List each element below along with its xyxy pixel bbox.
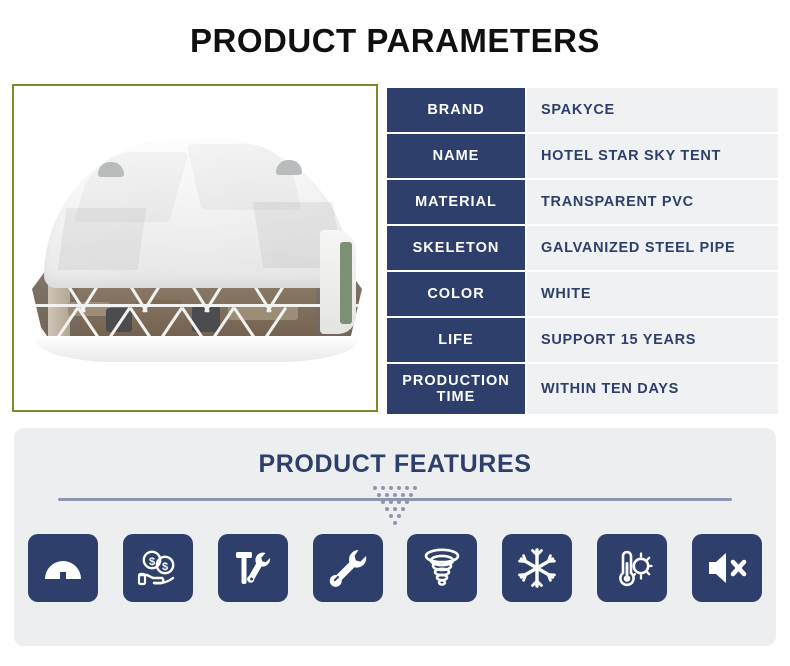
spec-label-life: LIFE (387, 318, 525, 362)
table-row: SKELETON GALVANIZED STEEL PIPE (387, 226, 778, 270)
spec-label-name: NAME (387, 134, 525, 178)
roof-vent (276, 160, 302, 175)
table-row: PRODUCTION TIME WITHIN TEN DAYS (387, 364, 778, 414)
dome-tent-illustration (32, 138, 362, 368)
thermometer-sun-icon[interactable] (597, 534, 667, 602)
table-row: NAME HOTEL STAR SKY TENT (387, 134, 778, 178)
dome-roof (44, 138, 350, 288)
feature-icon-strip: $ $ (14, 534, 776, 602)
spec-value-production-time: WITHIN TEN DAYS (527, 364, 778, 414)
product-photo-stage (14, 86, 376, 410)
hammer-wrench-icon[interactable] (218, 534, 288, 602)
table-row: COLOR WHITE (387, 272, 778, 316)
tornado-wind-icon[interactable] (407, 534, 477, 602)
spec-label-color: COLOR (387, 272, 525, 316)
roof-facet (58, 208, 147, 270)
spec-label-production-time: PRODUCTION TIME (387, 364, 525, 414)
spec-label-skeleton: SKELETON (387, 226, 525, 270)
spec-value-brand: SPAKYCE (527, 88, 778, 132)
roof-vent (98, 162, 124, 177)
speaker-mute-icon[interactable] (692, 534, 762, 602)
features-title: PRODUCT FEATURES (14, 450, 776, 479)
hand-coins-icon[interactable]: $ $ (123, 534, 193, 602)
roof-facet (186, 144, 301, 210)
divider-dot-ornament (14, 486, 776, 528)
product-image (12, 84, 378, 412)
spec-value-color: WHITE (527, 272, 778, 316)
table-row: MATERIAL TRANSPARENT PVC (387, 180, 778, 224)
spec-label-brand: BRAND (387, 88, 525, 132)
dome-base-skirt (36, 336, 358, 362)
table-row: LIFE SUPPORT 15 YEARS (387, 318, 778, 362)
spec-label-material: MATERIAL (387, 180, 525, 224)
spec-value-name: HOTEL STAR SKY TENT (527, 134, 778, 178)
spec-value-life: SUPPORT 15 YEARS (527, 318, 778, 362)
product-features-panel: PRODUCT FEATURES $ $ (14, 428, 776, 646)
svg-text:$: $ (149, 556, 155, 568)
dome-tent-icon[interactable] (28, 534, 98, 602)
page-title: PRODUCT PARAMETERS (0, 22, 790, 60)
wrench-icon[interactable] (313, 534, 383, 602)
product-parameters-table: BRAND SPAKYCE NAME HOTEL STAR SKY TENT M… (387, 88, 778, 416)
spec-value-skeleton: GALVANIZED STEEL PIPE (527, 226, 778, 270)
spec-value-material: TRANSPARENT PVC (527, 180, 778, 224)
svg-text:$: $ (162, 561, 168, 573)
snowflake-icon[interactable] (502, 534, 572, 602)
table-row: BRAND SPAKYCE (387, 88, 778, 132)
dome-side-door (340, 242, 352, 324)
